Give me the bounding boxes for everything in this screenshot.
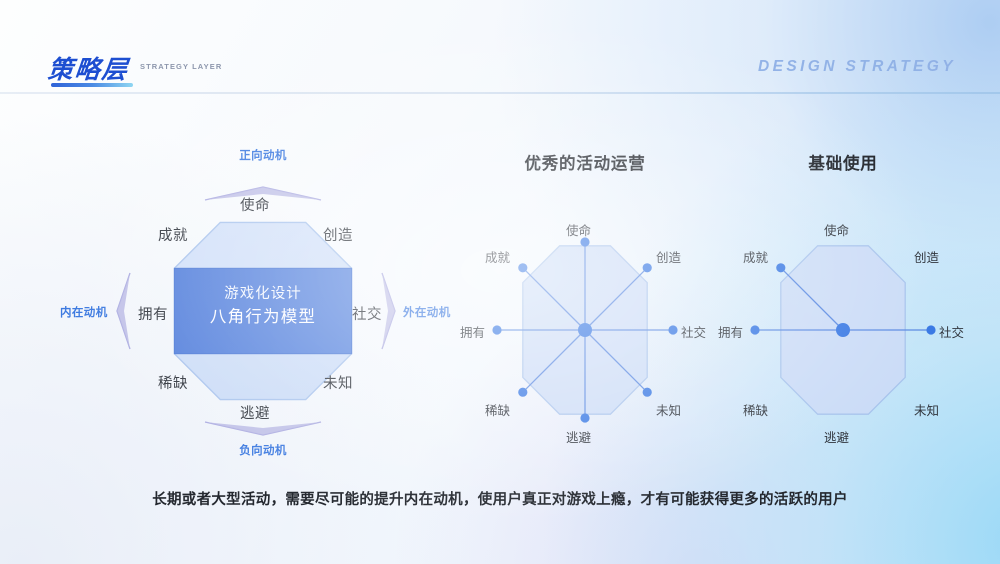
radar2-term-left: 拥有 [718,322,743,341]
radar1-term-bottom: 逃避 [566,427,591,446]
radar-card-basic: 基础使用 使命 成就 创造 拥有 社交 稀缺 未知 逃避 [713,150,973,450]
brand-subtitle-en: STRATEGY LAYER [140,62,222,71]
model-term-top: 使命 [240,194,270,215]
axis-label-intrinsic: 内在动机 [60,304,108,320]
axis-label-extrinsic: 外在动机 [403,304,451,320]
radar2-term-bottom-left: 稀缺 [743,400,768,419]
model-term-top-right: 创造 [323,224,353,245]
radar2-term-top: 使命 [824,220,849,239]
radar2-term-right: 社交 [939,322,964,341]
model-term-bottom-left: 稀缺 [158,372,188,393]
radar2-term-top-right: 创造 [914,247,939,266]
brand-block: 策略层 STRATEGY LAYER [48,50,129,86]
axis-label-positive: 正向动机 [232,147,294,163]
radar-center-dot [578,323,592,337]
axis-arrow-right-fill [382,273,395,349]
radar2-term-top-left: 成就 [743,247,768,266]
axis-arrow-bottom-fill [205,422,321,435]
axis-label-negative: 负向动机 [232,442,294,458]
model-center-line2: 八角行为模型 [174,305,352,330]
radar1-term-top-right: 创造 [656,247,681,266]
header-right-label: DESIGN STRATEGY [758,58,956,76]
radar1-term-top-left: 成就 [485,247,510,266]
radar1-term-top: 使命 [566,220,591,239]
brand-title-cn: 策略层 [46,50,131,86]
radar2-term-bottom-right: 未知 [914,400,939,419]
model-center-line1: 游戏化设计 [174,283,352,305]
radar2-term-bottom: 逃避 [824,427,849,446]
header-divider [0,92,1000,94]
slide-caption: 长期或者大型活动，需要尽可能的提升内在动机，使用户真正对游戏上瘾，才有可能获得更… [0,488,1000,509]
radar1-term-bottom-right: 未知 [656,400,681,419]
brand-underline-bar [51,83,133,87]
model-term-bottom: 逃避 [240,402,270,423]
radar-center-dot [836,323,850,337]
radar1-term-left: 拥有 [460,322,485,341]
model-term-top-left: 成就 [158,224,188,245]
model-term-left: 拥有 [138,303,168,324]
octalysis-model-diagram: 游戏化设计 八角行为模型 正向动机 负向动机 内在动机 外在动机 使命 成就 创… [62,140,464,482]
radar-card-excellent: 优秀的活动运营 使命 成就 创造 拥有 社交 稀缺 未知 [455,150,715,450]
radar1-term-right: 社交 [681,322,706,341]
radar-title-excellent: 优秀的活动运营 [455,150,715,174]
radar-title-basic: 基础使用 [713,150,973,174]
model-term-bottom-right: 未知 [323,372,353,393]
axis-arrow-left-fill [117,273,130,349]
model-center-label: 游戏化设计 八角行为模型 [174,283,352,330]
radar1-term-bottom-left: 稀缺 [485,400,510,419]
slide-header: 策略层 STRATEGY LAYER DESIGN STRATEGY [0,0,1000,93]
model-term-right: 社交 [352,303,382,324]
